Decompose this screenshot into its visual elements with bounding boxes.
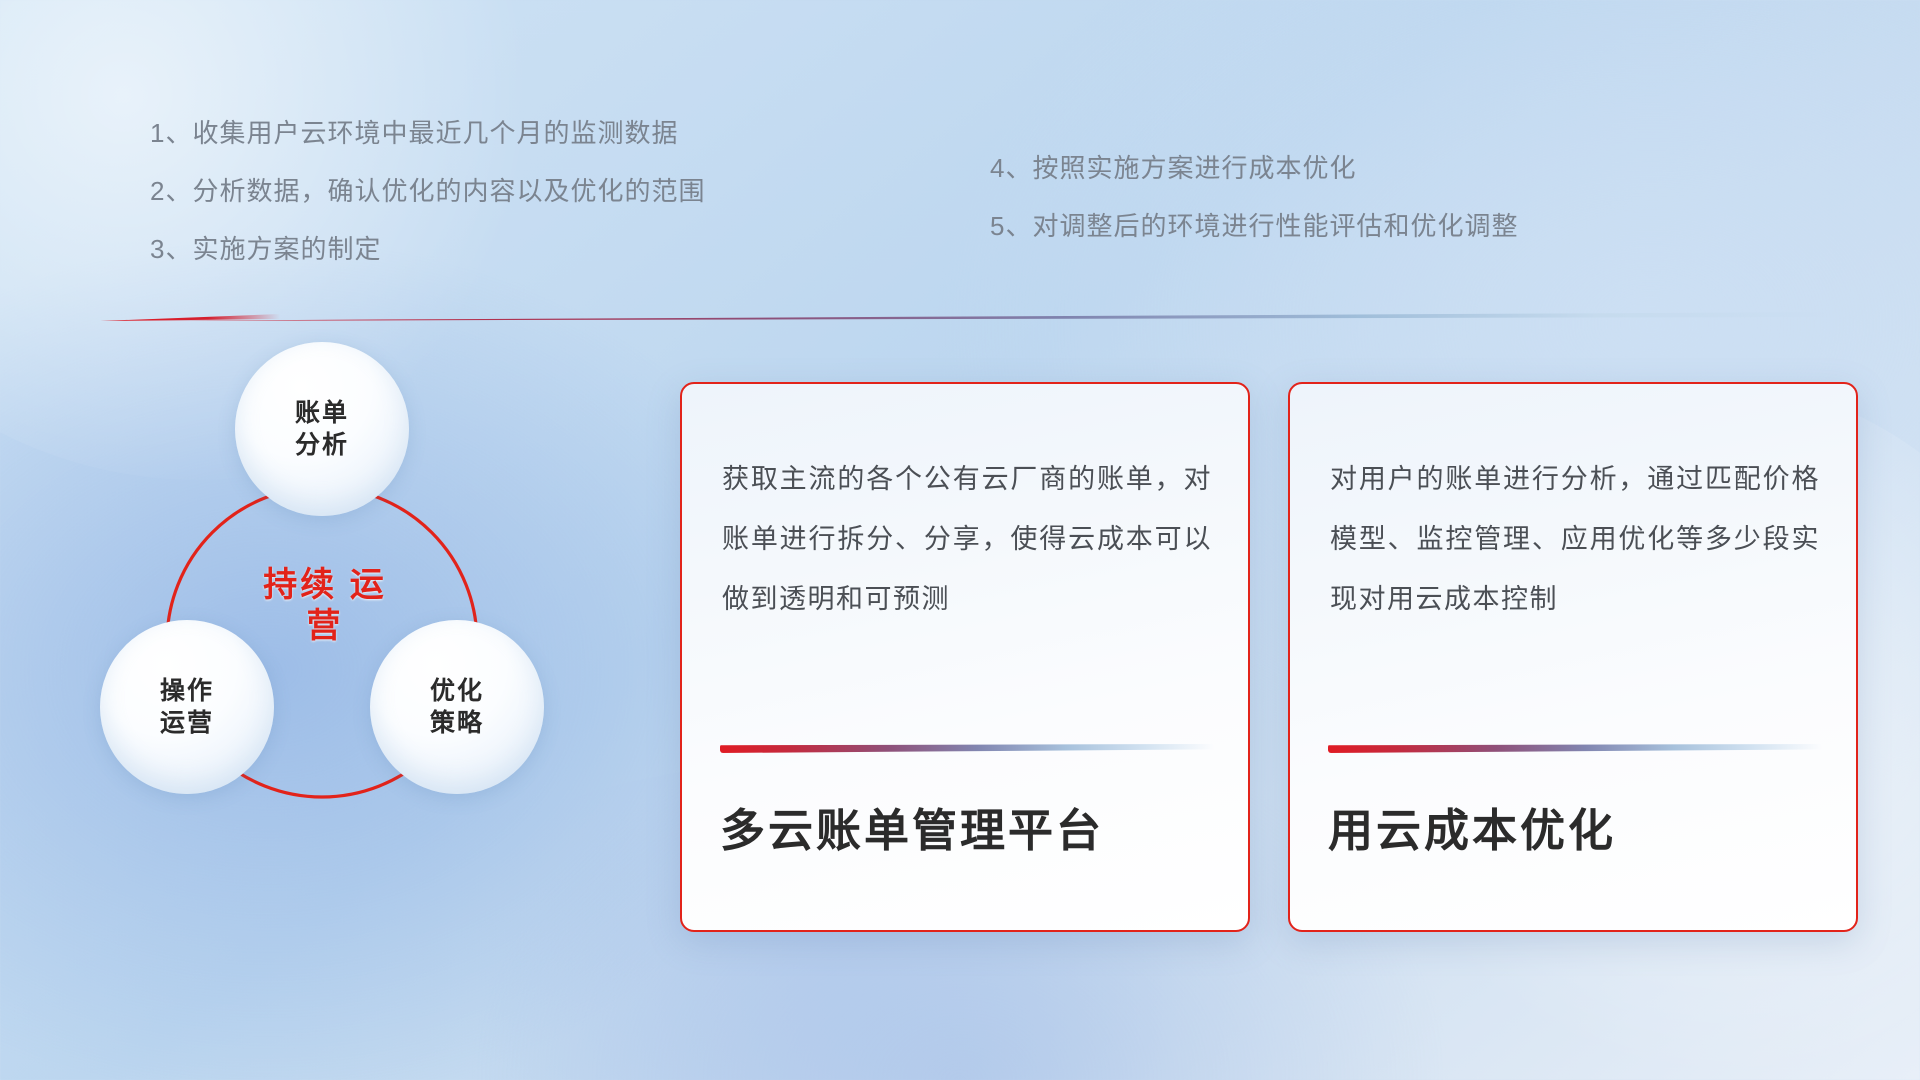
cycle-node-billing-analysis[interactable]: 账单 分析	[235, 342, 409, 516]
section-divider-accent	[100, 312, 280, 321]
feature-card-1-body: 获取主流的各个公有云厂商的账单，对账单进行拆分、分享，使得云成本可以做到透明和可…	[722, 450, 1212, 630]
step-item-4: 4、按照实施方案进行成本优化	[990, 155, 1518, 181]
step-item-2: 2、分析数据，确认优化的内容以及优化的范围	[150, 178, 705, 204]
cycle-node-optimization-strategy-line2: 策略	[430, 707, 484, 740]
feature-card-2-divider	[1328, 744, 1822, 753]
feature-card-1-divider	[720, 744, 1214, 753]
feature-card-multicloud-billing[interactable]: 获取主流的各个公有云厂商的账单，对账单进行拆分、分享，使得云成本可以做到透明和可…	[680, 382, 1250, 932]
steps-column-right: 4、按照实施方案进行成本优化 5、对调整后的环境进行性能评估和优化调整	[990, 155, 1518, 271]
steps-column-left: 1、收集用户云环境中最近几个月的监测数据 2、分析数据，确认优化的内容以及优化的…	[150, 120, 705, 294]
steps-section: 1、收集用户云环境中最近几个月的监测数据 2、分析数据，确认优化的内容以及优化的…	[0, 0, 1920, 300]
cycle-diagram: 账单 分析 操作 运营 优化 策略 持续 运营	[100, 350, 620, 910]
cycle-node-billing-analysis-line1: 账单	[295, 397, 349, 430]
feature-card-2-body: 对用户的账单进行分析，通过匹配价格模型、监控管理、应用优化等多少段实现对用云成本…	[1330, 450, 1820, 630]
feature-card-cloud-cost-optimization[interactable]: 对用户的账单进行分析，通过匹配价格模型、监控管理、应用优化等多少段实现对用云成本…	[1288, 382, 1858, 932]
cycle-node-operations-line2: 运营	[160, 707, 214, 740]
cycle-center-label: 持续 运营	[245, 565, 405, 648]
feature-card-1-title: 多云账单管理平台	[720, 804, 1218, 858]
section-divider-line	[100, 312, 1840, 321]
cycle-node-billing-analysis-line2: 分析	[295, 429, 349, 462]
step-item-3: 3、实施方案的制定	[150, 236, 705, 262]
step-item-5: 5、对调整后的环境进行性能评估和优化调整	[990, 213, 1518, 239]
feature-card-2-title: 用云成本优化	[1328, 804, 1826, 858]
cycle-node-optimization-strategy-line1: 优化	[430, 675, 484, 708]
cycle-center-label-line1: 持续	[263, 566, 337, 604]
step-item-1: 1、收集用户云环境中最近几个月的监测数据	[150, 120, 705, 146]
cycle-node-operations-line1: 操作	[160, 675, 214, 708]
